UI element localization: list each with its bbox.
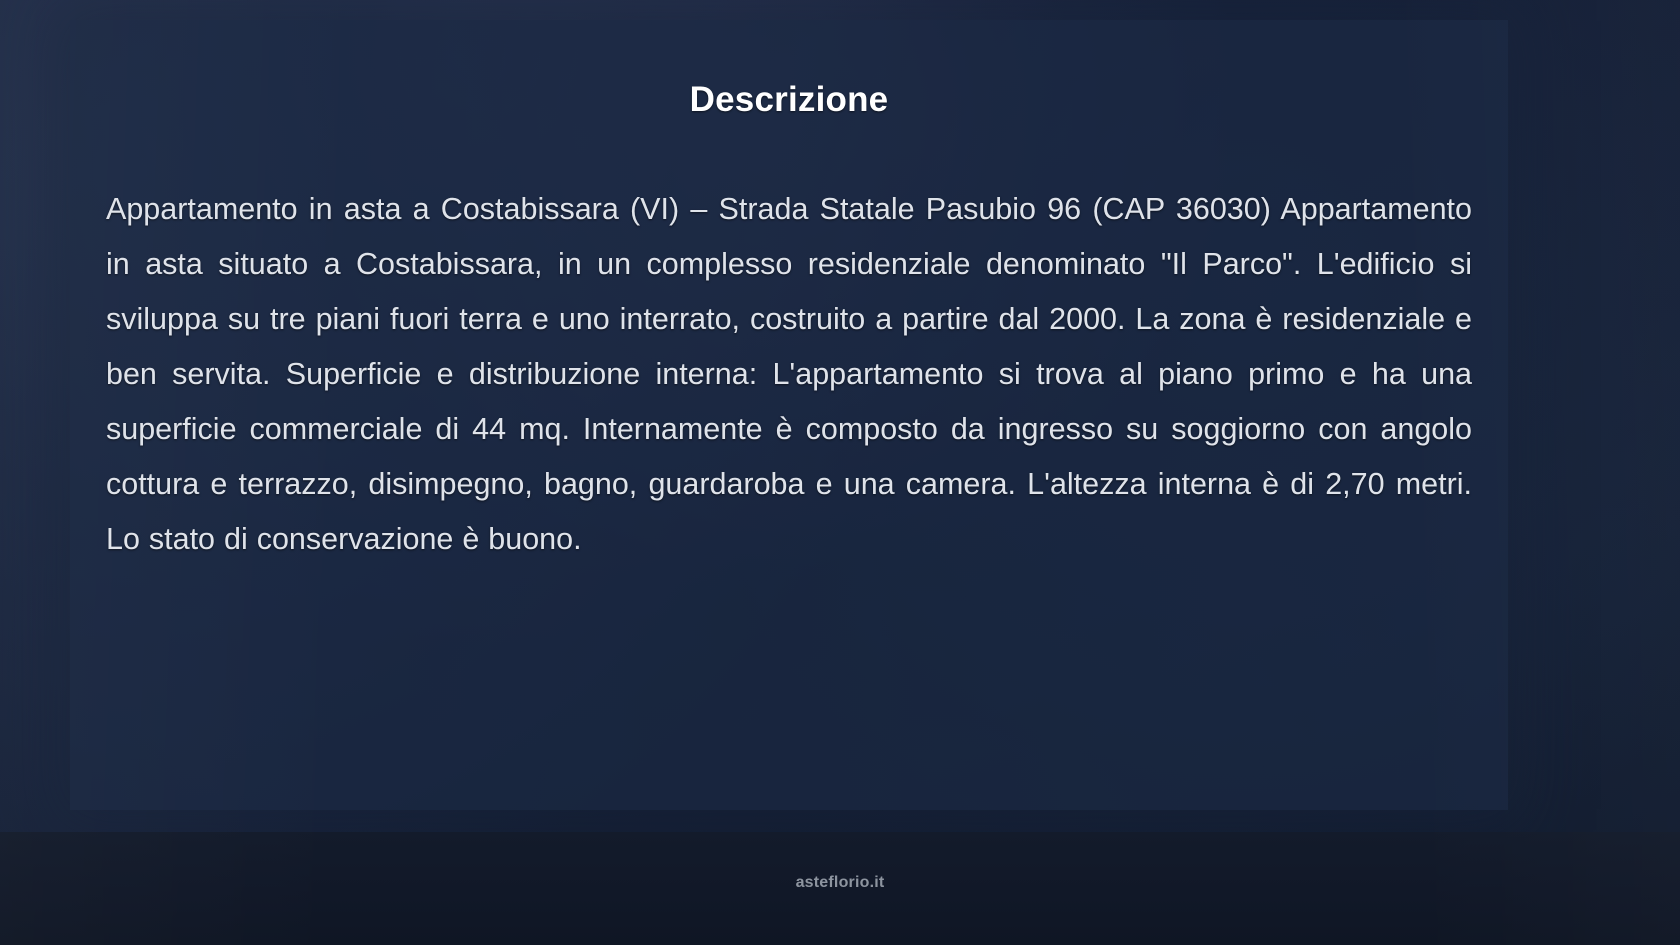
page-title: Descrizione: [70, 80, 1508, 120]
slide-container: Descrizione Appartamento in asta a Costa…: [0, 0, 1680, 945]
description-body: Appartamento in asta a Costabissara (VI)…: [106, 182, 1472, 567]
footer-bar: asteflorio.it: [0, 832, 1680, 945]
description-card: Descrizione Appartamento in asta a Costa…: [70, 20, 1508, 810]
site-watermark: asteflorio.it: [0, 874, 1680, 892]
